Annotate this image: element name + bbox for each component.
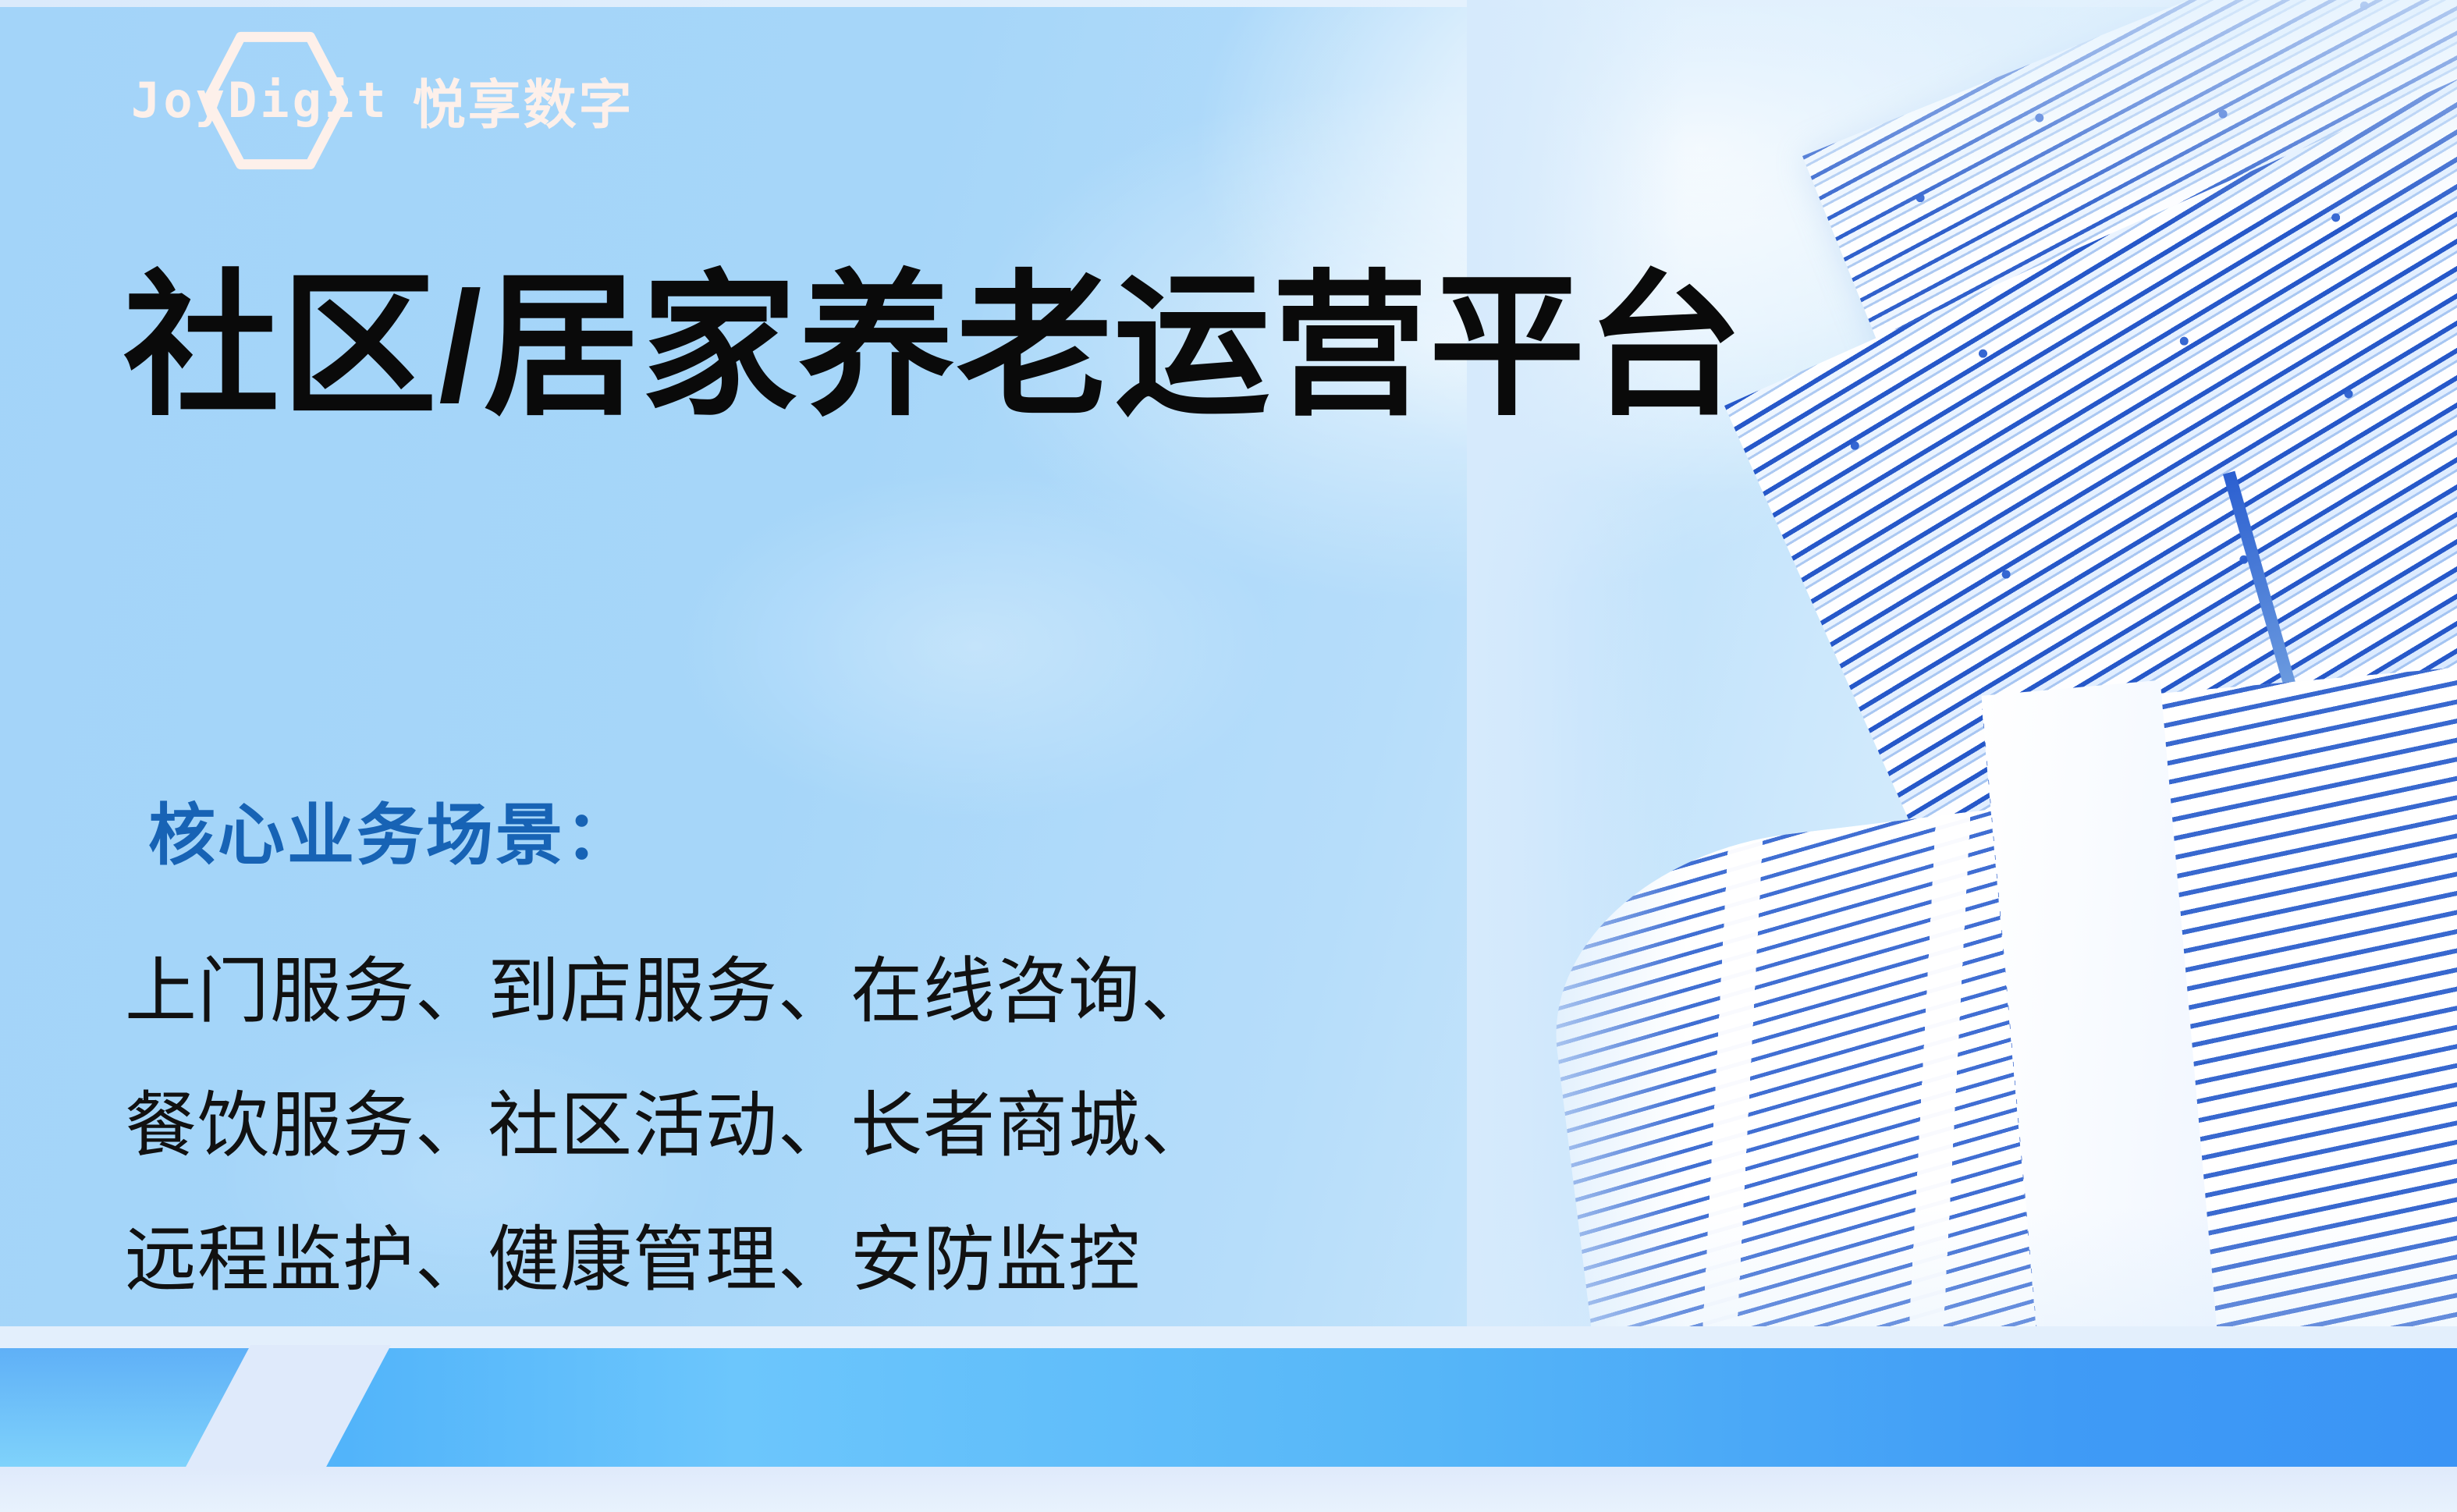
- scenario-list: 上门服务、到店服务、在线咨询、 餐饮服务、社区活动、长者商城、 远程监护、健康管…: [125, 925, 1213, 1327]
- scenario-line: 餐饮服务、社区活动、长者商城、: [125, 1059, 1213, 1193]
- scenario-line: 远程监护、健康管理、安防监控: [125, 1193, 1213, 1327]
- brand-name-cn: 悦享数字: [413, 62, 634, 139]
- brand-wordmark: JoyDigit: [131, 72, 389, 129]
- scenario-line: 上门服务、到店服务、在线咨询、: [125, 925, 1213, 1059]
- section-heading: 核心业务场景：: [148, 780, 634, 878]
- presentation-slide: JoyDigit 悦享数字 社区/居家养老运营平台 核心业务场景： 上门服务、到…: [0, 0, 2457, 1512]
- band-base-strip: [0, 1467, 2457, 1512]
- skyscraper-photo: [1467, 0, 2457, 1404]
- photo-edge-fade: [1467, 0, 2457, 1404]
- bottom-decorative-band: [0, 1326, 2457, 1512]
- brand-logo: JoyDigit 悦享数字: [131, 61, 634, 139]
- page-title: 社区/居家养老运营平台: [123, 257, 1745, 437]
